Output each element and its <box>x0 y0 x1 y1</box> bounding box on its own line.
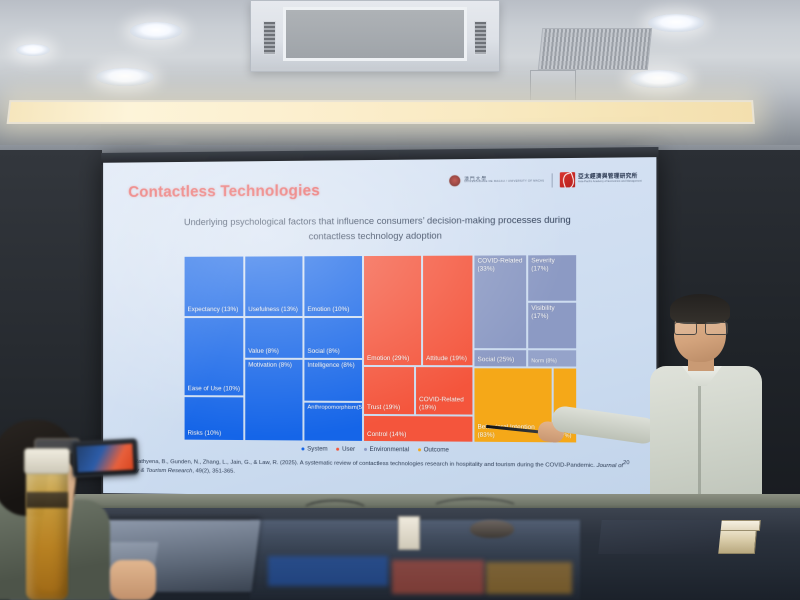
legend-label-outcome: Outcome <box>424 446 449 453</box>
slide-subtitle: Underlying psychological factors that in… <box>161 212 594 244</box>
presenter-hair <box>670 294 730 324</box>
downlight <box>630 70 688 88</box>
downlight <box>16 44 50 56</box>
treemap-cell: Value (8%) <box>245 318 302 358</box>
downlight <box>130 22 182 40</box>
legend-label-system: System <box>307 445 327 452</box>
logo-group: 澳門大學 UNIVERSIDADE DE MACAU / UNIVERSITY … <box>448 172 642 189</box>
ceiling-air-vent <box>538 28 652 70</box>
slide-reflection-amber <box>486 562 572 594</box>
legend-swatch-environmental <box>364 448 367 451</box>
ceiling <box>0 0 800 150</box>
bottle-cap <box>24 448 70 474</box>
legend-label-user: User <box>342 446 355 453</box>
legend-swatch-system <box>302 447 305 450</box>
vent-duct <box>530 70 576 104</box>
treemap-cell: Social (25%) <box>474 350 526 366</box>
ap-logo-text: 亞太經濟與管理研究所 Asia-Pacific Academy of Econo… <box>578 175 642 184</box>
legend-swatch-user <box>337 448 340 451</box>
treemap-group-user: Emotion (29%) Attitude (19%) Trust (19%)… <box>364 256 472 442</box>
slide-reflection-orange <box>392 560 484 594</box>
slide-reflection-blue <box>268 556 388 586</box>
projection-screen: Contactless Technologies 澳門大學 UNIVERSIDA… <box>101 147 658 501</box>
legend-label-environmental: Environmental <box>370 446 410 453</box>
um-seal-icon <box>448 174 461 187</box>
downlight <box>648 14 704 32</box>
legend-item-user: User <box>337 446 355 453</box>
treemap-cell: Anthropomorphism(5%) <box>304 403 362 441</box>
legend-swatch-outcome <box>418 448 421 451</box>
smartphone[interactable] <box>71 438 139 477</box>
um-logo-en: UNIVERSIDADE DE MACAU / UNIVERSITY OF MA… <box>464 181 544 185</box>
bottle-label-band <box>26 492 68 508</box>
treemap-cell: Risks (10%) <box>185 397 244 440</box>
treemap-cell: Motivation (8%) <box>245 360 302 441</box>
presenter-glasses <box>674 322 728 333</box>
treemap-chart: Expectancy (13%) Usefulness (13%) Emotio… <box>185 255 575 442</box>
treemap-cell: Attitude (19%) <box>423 256 472 365</box>
power-adapter <box>398 516 420 550</box>
phone-screen <box>76 444 133 473</box>
treemap-cell: Norm (8%) <box>528 350 576 366</box>
downlight <box>96 68 154 86</box>
photo-scene: Contactless Technologies 澳門大學 UNIVERSIDA… <box>0 0 800 600</box>
treemap-cell: Trust (19%) <box>364 367 414 415</box>
treemap-cell: COVID-Related (19%) <box>416 367 472 415</box>
source-tail: , 49(2), 351-365. <box>192 468 235 474</box>
ceiling-ac-unit <box>250 0 500 72</box>
cable <box>300 500 370 524</box>
tea-bottle <box>26 468 68 600</box>
chart-legend: System User Environmental Outcome <box>103 444 656 455</box>
treemap-cell: Usefulness (13%) <box>245 256 302 316</box>
logo-divider <box>552 173 553 187</box>
linear-ceiling-light <box>7 100 755 124</box>
ap-mark-icon <box>560 172 575 187</box>
asia-pacific-academy-logo: 亞太經濟與管理研究所 Asia-Pacific Academy of Econo… <box>560 172 642 188</box>
slide-title: Contactless Technologies <box>128 182 320 201</box>
slide-source-citation: Source: Rathyena, B., Gunden, N., Zhang,… <box>113 458 644 480</box>
treemap-group-system: Expectancy (13%) Usefulness (13%) Emotio… <box>185 256 362 441</box>
ac-vent-right <box>474 21 487 55</box>
screen-surface: Contactless Technologies 澳門大學 UNIVERSIDA… <box>103 157 656 499</box>
laptop-right <box>598 520 722 554</box>
university-of-macau-logo: 澳門大學 UNIVERSIDADE DE MACAU / UNIVERSITY … <box>448 173 544 187</box>
computer-mouse <box>470 520 514 538</box>
legend-item-environmental: Environmental <box>364 446 409 453</box>
slide: Contactless Technologies 澳門大學 UNIVERSIDA… <box>103 157 656 499</box>
legend-item-outcome: Outcome <box>418 446 449 453</box>
um-logo-text: 澳門大學 UNIVERSIDADE DE MACAU / UNIVERSITY … <box>464 176 544 184</box>
legend-item-system: System <box>302 445 328 452</box>
treemap-cell: Control (14%) <box>364 416 472 442</box>
treemap-cell: Emotion (29%) <box>364 256 421 365</box>
audience-hand <box>110 560 156 600</box>
ac-panel <box>283 7 467 61</box>
cable <box>430 498 520 520</box>
slide-page-number: 20 <box>623 460 629 466</box>
ac-vent-left <box>263 21 276 55</box>
treemap-cell: Social (8%) <box>304 318 362 358</box>
treemap-cell: Severity (17%) <box>528 255 576 301</box>
treemap-cell: Expectancy (13%) <box>185 257 244 317</box>
treemap-cell: Ease of Use (10%) <box>185 318 244 395</box>
ap-logo-en: Asia-Pacific Academy of Economics and Ma… <box>578 181 642 184</box>
treemap-cell: Visibility (17%) <box>528 303 576 349</box>
treemap-cell: Intelligence (8%) <box>304 360 362 401</box>
treemap-cell: Emotion (10%) <box>304 256 362 316</box>
treemap-cell: COVID-Related (33%) <box>474 255 526 348</box>
